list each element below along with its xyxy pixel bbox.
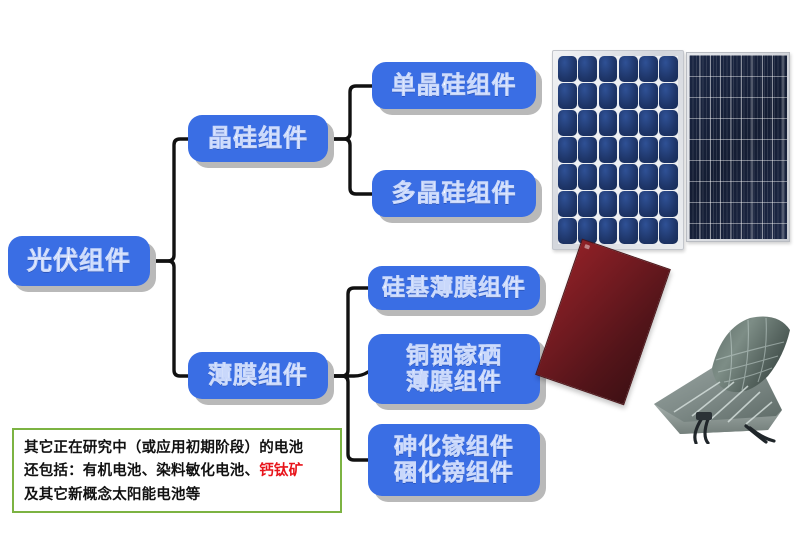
node-label: 硅基薄膜组件 xyxy=(382,275,526,301)
panel-cell-grid xyxy=(558,56,678,244)
node-monocrystalline-silicon-module[interactable]: 单晶硅组件 xyxy=(372,62,536,109)
polycrystalline-solar-panel-photo xyxy=(686,52,790,242)
node-silicon-based-thin-film-module[interactable]: 硅基薄膜组件 xyxy=(368,266,540,310)
panel-cell-grid xyxy=(689,55,787,239)
node-crystalline-silicon-modules[interactable]: 晶硅组件 xyxy=(188,115,328,162)
node-label-line2: 碅化镑组件 xyxy=(394,460,514,486)
node-label: 多晶硅组件 xyxy=(392,180,517,208)
wire-thinfilm-to-cigs xyxy=(328,372,368,376)
note-highlight-perovskite: 钙钛矿 xyxy=(259,463,303,479)
module-upper-curl xyxy=(712,317,790,393)
wire-root-to-thinfilm xyxy=(150,261,188,376)
module-junction-box xyxy=(696,412,712,420)
node-polycrystalline-silicon-module[interactable]: 多晶硅组件 xyxy=(372,170,536,217)
note-line-1: 其它正在研究中（或应用初期阶段）的电池 xyxy=(24,437,332,460)
node-label-line2: 薄膜组件 xyxy=(406,369,502,395)
node-thin-film-modules[interactable]: 薄膜组件 xyxy=(188,352,328,399)
node-label-line1: 铜铟镓硒 xyxy=(406,343,502,369)
flexible-module-graphic xyxy=(650,312,800,444)
node-cigs-thin-film-module[interactable]: 铜铟镓硒 薄膜组件 xyxy=(368,334,540,404)
note-line-2: 还包括：有机电池、染料敏化电池、钙钛矿 xyxy=(24,460,332,483)
node-root-photovoltaic-modules[interactable]: 光伏组件 xyxy=(8,236,150,286)
node-label: 薄膜组件 xyxy=(208,362,308,390)
wire-crystalline-to-poly xyxy=(328,139,372,194)
node-label: 晶硅组件 xyxy=(208,125,308,153)
note-line-3: 及其它新概念太阳能电池等 xyxy=(24,484,332,507)
node-label: 单晶硅组件 xyxy=(392,72,517,100)
wire-crystalline-to-mono xyxy=(328,86,372,139)
wire-thinfilm-to-si xyxy=(328,288,368,376)
diagram-canvas: 光伏组件 晶硅组件 薄膜组件 单晶硅组件 多晶硅组件 硅基薄膜组件 铜铟镓硒 薄… xyxy=(0,0,800,560)
note-line-2-prefix: 还包括：有机电池、染料敏化电池、 xyxy=(24,463,259,479)
flexible-thin-film-module-photo xyxy=(650,312,800,444)
monocrystalline-solar-panel-photo xyxy=(552,50,684,250)
node-label: 光伏组件 xyxy=(27,247,131,276)
note-box-emerging-cell-technologies: 其它正在研究中（或应用初期阶段）的电池 还包括：有机电池、染料敏化电池、钙钛矿 … xyxy=(12,428,342,513)
node-label-line1: 砷化镓组件 xyxy=(394,434,514,460)
node-gaas-cdte-module[interactable]: 砷化镓组件 碅化镑组件 xyxy=(368,424,540,496)
wire-root-to-crystalline xyxy=(150,139,188,261)
